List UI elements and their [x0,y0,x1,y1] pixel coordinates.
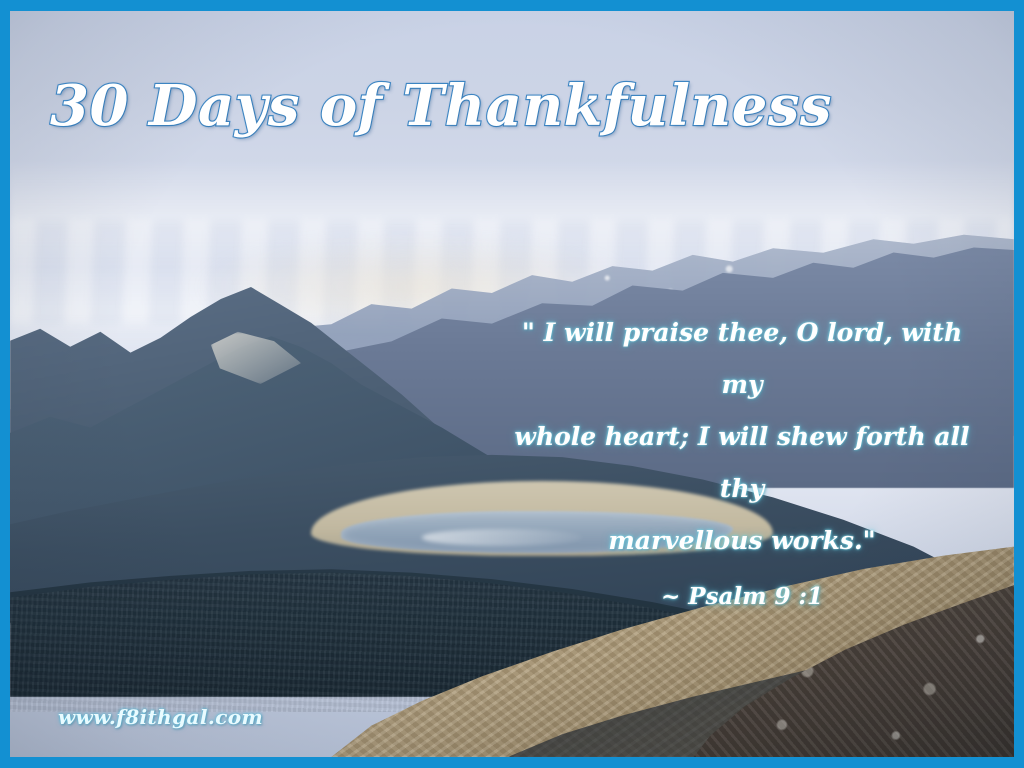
page-title: 30 Days of Thankfulness [50,73,832,139]
verse-reference: ~ Psalm 9 :1 [512,571,972,623]
image-frame: 30 Days of Thankfulness " I will praise … [0,0,1024,768]
verse-line-2: whole heart; I will shew forth all thy [512,411,972,515]
scripture-verse: " I will praise thee, O lord, with my wh… [512,307,972,623]
site-watermark: www.f8ithgal.com [58,705,263,729]
verse-line-1: " I will praise thee, O lord, with my [512,307,972,411]
photo-canvas: 30 Days of Thankfulness " I will praise … [10,11,1014,757]
verse-line-3: marvellous works." [512,515,972,567]
